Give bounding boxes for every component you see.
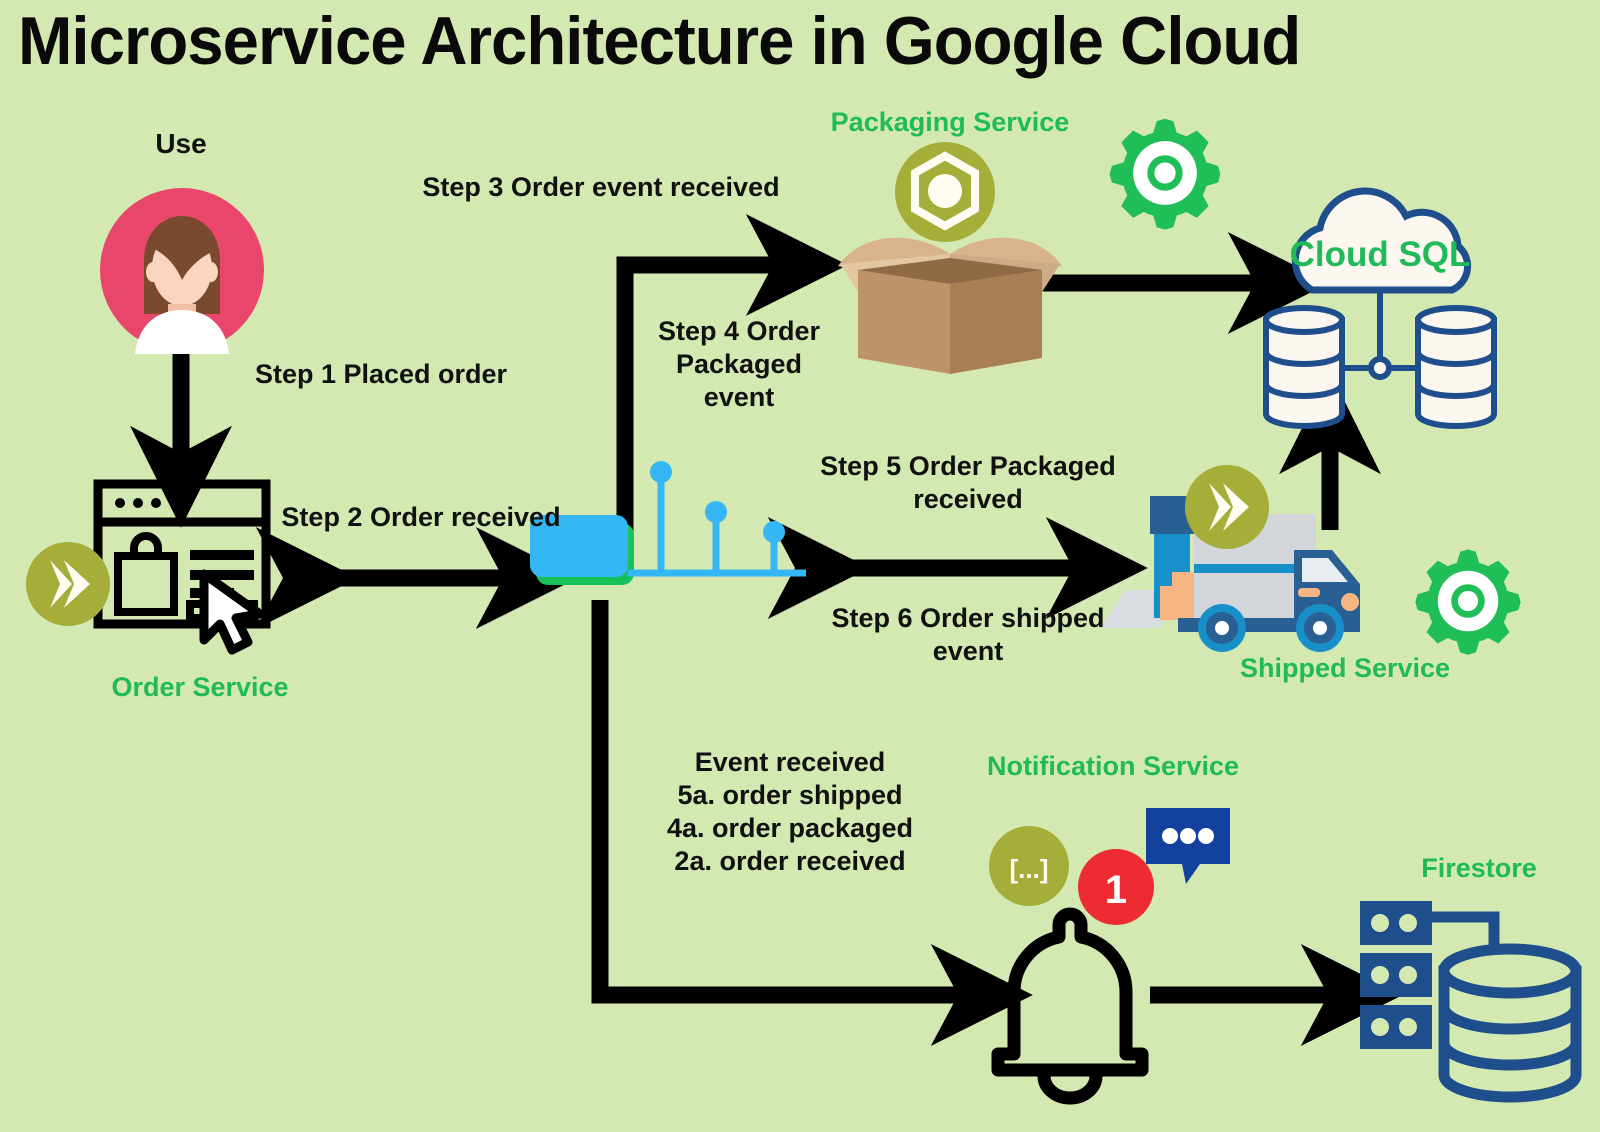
packaging-service-label: Packaging Service — [790, 107, 1110, 138]
step4-label: Step 4 Order Packaged event — [626, 315, 852, 414]
gke-badge — [893, 140, 997, 244]
events-label: Event received 5a. order shipped 4a. ord… — [620, 746, 960, 878]
svg-text:[...]: [...] — [1010, 854, 1049, 884]
notification-service-label: Notification Service — [940, 751, 1286, 782]
bell-icon — [978, 900, 1162, 1120]
cloud-sql-icon: Cloud SQL — [1252, 180, 1512, 430]
gear-icon — [1412, 545, 1524, 657]
firestore-label: Firestore — [1370, 853, 1588, 884]
cloud-run-badge — [24, 540, 112, 628]
gear-icon — [1106, 114, 1224, 232]
svg-text:Cloud SQL: Cloud SQL — [1290, 235, 1471, 274]
step5-label: Step 5 Order Packaged received — [790, 450, 1146, 516]
step6-label: Step 6 Order shipped event — [790, 602, 1146, 668]
user-avatar-icon — [98, 186, 266, 354]
step1-label: Step 1 Placed order — [216, 358, 546, 391]
cloud-run-badge — [1183, 463, 1271, 551]
shipped-service-label: Shipped Service — [1195, 653, 1495, 684]
order-service-label: Order Service — [75, 672, 325, 703]
chat-bubble-icon — [1142, 802, 1234, 886]
step2-label: Step 2 Order received — [256, 501, 586, 534]
firestore-icon — [1352, 895, 1584, 1105]
mouse-cursor-icon — [196, 570, 280, 656]
step3-label: Step 3 Order event received — [386, 171, 816, 204]
diagram-canvas: Microservice Architecture in Google Clou… — [0, 0, 1600, 1132]
cloud-functions-badge: [...] — [988, 825, 1070, 907]
user-label: Use — [101, 128, 261, 160]
